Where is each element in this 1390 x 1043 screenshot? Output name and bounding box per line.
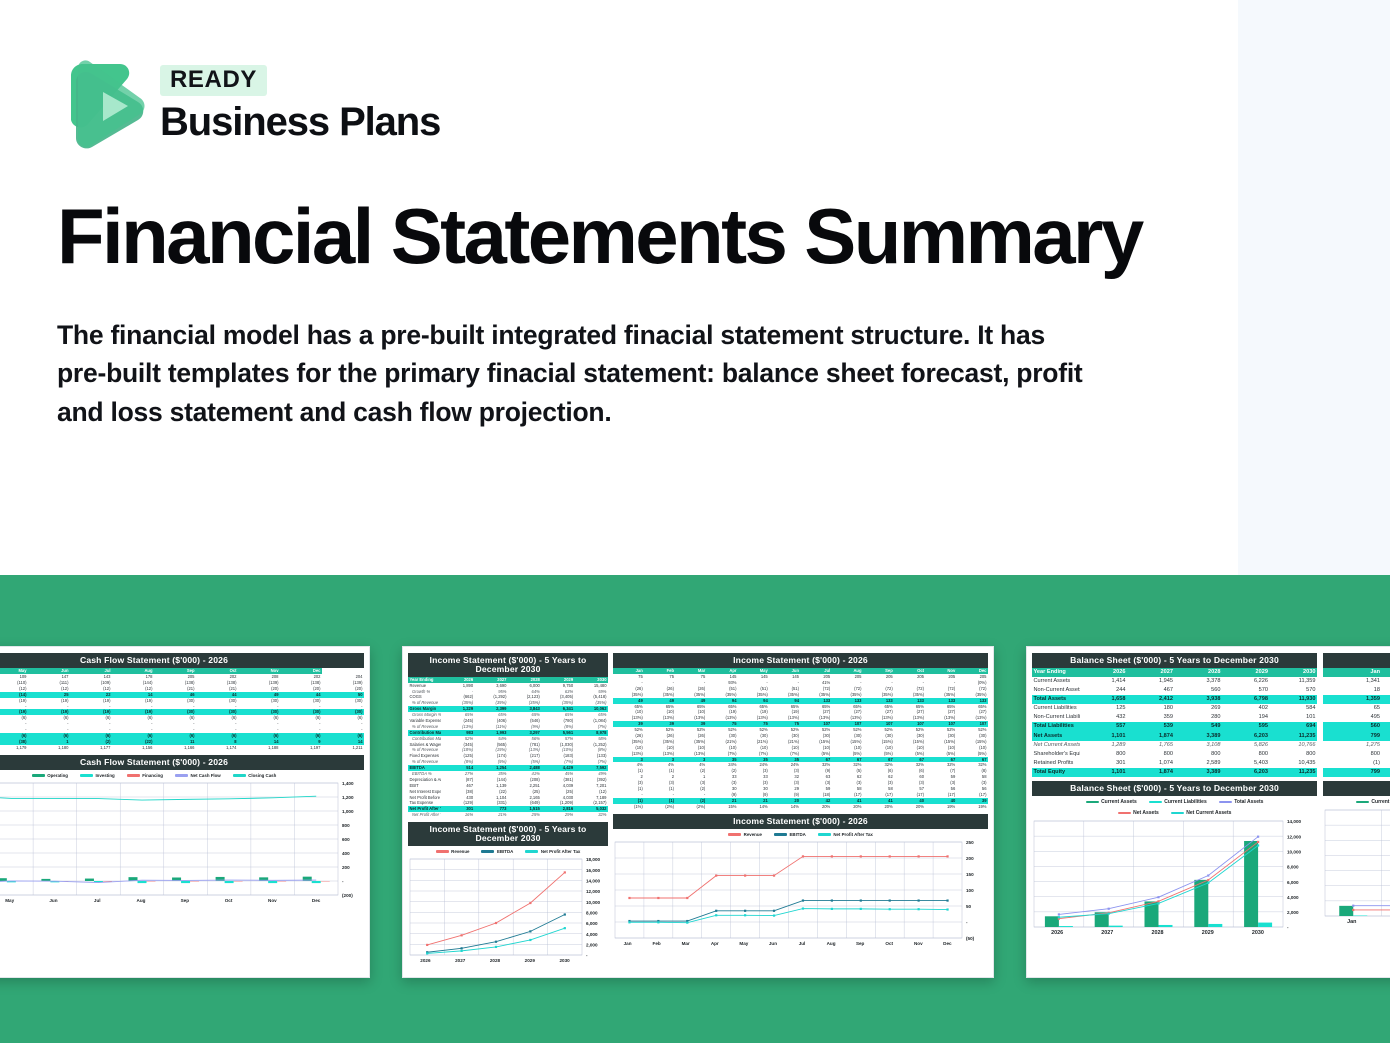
income-5y-table: Year Ending20262027202820292030Revenue1,… [408, 677, 608, 818]
svg-text:10,000: 10,000 [586, 900, 600, 905]
svg-text:4,000: 4,000 [586, 932, 598, 937]
income-monthly-x-axis: JanFebMarAprMayJunJulAugSepOctNovDec [613, 941, 988, 946]
axis-tick-label: 2027 [443, 958, 478, 963]
legend-item: Current Assets [1356, 799, 1390, 805]
row-label: Non-Current Assets [1032, 686, 1080, 695]
table-cell: 1,166 [154, 745, 196, 751]
table-cell: 29% [541, 812, 574, 818]
table-row: Net Assets1,1011,8743,3896,20311,235 [1032, 732, 1317, 741]
table-cell: 11,235 [1270, 732, 1318, 741]
axis-tick-label: Jul [787, 941, 816, 946]
legend-label: Operating [47, 773, 68, 778]
table-cell: 557 [1080, 722, 1128, 731]
legend-swatch [1086, 801, 1099, 804]
table-cell: 495 [1323, 713, 1382, 722]
income-monthly-chart-title: Income Statement ($'000) - 2026 [613, 814, 988, 829]
brand-logo: READY Business Plans [58, 58, 440, 150]
table-cell: 32% [575, 812, 608, 818]
legend-label: Net Profit After Tax [541, 849, 581, 854]
table-cell: 549 [1175, 722, 1223, 731]
cashflow-table-title: Cash Flow Statement ($'000) - 2026 [0, 653, 364, 668]
legend-swatch [1171, 812, 1184, 815]
table-row: 1,3411,323 [1323, 677, 1390, 686]
svg-text:-: - [1287, 925, 1289, 930]
balance-monthly-table: JanFeb1,3411,32318361,3591,3596572495489… [1323, 668, 1390, 777]
legend-swatch [481, 850, 494, 853]
table-cell: 1,874 [1127, 768, 1175, 777]
axis-tick-label: Feb [1381, 919, 1390, 925]
svg-text:6,000: 6,000 [1287, 880, 1299, 885]
table-cell: 1,180 [28, 745, 70, 751]
row-label: Depreciation & Amortisation [408, 777, 441, 783]
table-cell: 1,101 [1080, 768, 1128, 777]
header-cell: 2030 [1270, 668, 1318, 677]
table-cell: 800 [1127, 750, 1175, 759]
axis-tick-label: Jan [613, 941, 642, 946]
table-cell: 800 [1080, 750, 1128, 759]
cashflow-chart-title: Cash Flow Statement ($'000) - 2026 [0, 755, 364, 770]
axis-tick-label: Sep [163, 898, 207, 903]
table-cell: 561 [1382, 722, 1390, 731]
axis-tick-label: Sep [846, 941, 875, 946]
header-cell: Year Ending [1032, 668, 1080, 677]
table-cell: 10,435 [1270, 759, 1318, 768]
axis-tick-label: 2027 [1082, 930, 1132, 936]
svg-text:200: 200 [342, 865, 350, 870]
axis-tick-label: 2029 [1183, 930, 1233, 936]
header-cell: 2029 [1222, 668, 1270, 677]
svg-text:150: 150 [966, 872, 974, 877]
svg-text:18,000: 18,000 [586, 857, 600, 862]
legend-item: Operating [32, 773, 68, 778]
svg-text:(50): (50) [966, 936, 975, 941]
table-cell: 402 [1222, 704, 1270, 713]
table-cell: 1,323 [1382, 677, 1390, 686]
svg-text:-: - [966, 920, 968, 925]
panel-income-statement[interactable]: Income Statement ($'000) - 5 Years to De… [402, 646, 994, 978]
income-monthly-chart-legend: RevenueEBITDANet Profit After Tax [613, 829, 988, 839]
table-cell: 14% [769, 804, 800, 810]
svg-text:12,000: 12,000 [1287, 834, 1301, 839]
table-cell: 269 [1175, 704, 1223, 713]
balance-5y-chart-legend-row1: Current AssetsCurrent LiabilitiesTotal A… [1032, 796, 1317, 807]
axis-tick-label: Aug [119, 898, 163, 903]
income-5y-chart: Income Statement ($'000) - 5 Years to De… [408, 822, 608, 963]
table-row: Retained Profits3011,0742,5895,40310,435 [1032, 759, 1317, 768]
table-cell: 570 [1270, 686, 1318, 695]
legend-item: Financing [127, 773, 163, 778]
header-cell: 2028 [1175, 668, 1223, 677]
table-cell: 1,414 [1080, 677, 1128, 686]
cashflow-table: AprMayJunJulAugSepOctNovDec7910914714317… [0, 668, 364, 750]
table-row: 800800 [1323, 750, 1390, 759]
table-cell: 244 [1080, 686, 1128, 695]
table-row: (1%)(2%)(2%)15%14%14%20%20%20%20%19%19% [613, 804, 988, 810]
legend-label: Total Assets [1234, 799, 1263, 805]
legend-label: EBITDA [497, 849, 513, 854]
svg-text:8,000: 8,000 [586, 910, 598, 915]
legend-item: Net Cash Flow [175, 773, 221, 778]
svg-text:4,000: 4,000 [1287, 895, 1299, 900]
axis-tick-label: Dec [294, 898, 338, 903]
svg-text:8,000: 8,000 [1287, 865, 1299, 870]
table-cell: 570 [1222, 686, 1270, 695]
balance-5y-x-axis: 20262027202820292030 [1032, 930, 1317, 936]
table-cell: 6,203 [1222, 732, 1270, 741]
income-monthly-chart: Income Statement ($'000) - 2026 RevenueE… [613, 814, 988, 946]
table-cell: 1,275 [1323, 741, 1382, 750]
cashflow-chart: Cash Flow Statement ($'000) - 2026 Opera… [0, 755, 364, 903]
table-cell: 11,359 [1270, 677, 1318, 686]
table-cell: 1,289 [1080, 741, 1128, 750]
table-cell: 19% [957, 804, 988, 810]
balance-5y-table: Year Ending20262027202820292030Current A… [1032, 668, 1317, 777]
table-cell: 539 [1127, 722, 1175, 731]
income-monthly-plot: 25020015010050-(50) [613, 839, 988, 941]
table-cell: 5,826 [1222, 741, 1270, 750]
axis-tick-label: 2026 [1032, 930, 1082, 936]
table-cell: 799 [1323, 732, 1382, 741]
row-label: Current Liabilities [1032, 704, 1080, 713]
table-cell: 11,930 [1270, 695, 1318, 704]
table-row: Net Profit After Tax %16%21%25%29%32% [408, 812, 608, 818]
table-cell: 800 [1323, 750, 1382, 759]
table-cell: 694 [1270, 722, 1318, 731]
table-cell: 798 [1382, 768, 1390, 777]
svg-text:-: - [342, 879, 344, 884]
axis-tick-label: Mar [671, 941, 700, 946]
table-cell: (1%) [613, 804, 644, 810]
table-row: 495489 [1323, 713, 1390, 722]
table-row: 560561 [1323, 722, 1390, 731]
axis-tick-label: Aug [817, 941, 846, 946]
axis-tick-label: 2026 [408, 958, 443, 963]
balance-5y-chart-legend-row2: Net AssetsNet Current Assets [1032, 807, 1317, 818]
row-label: Retained Profits [1032, 759, 1080, 768]
table-cell: 467 [1127, 686, 1175, 695]
table-row: 1,2751,251 [1323, 741, 1390, 750]
table-cell: 301 [1080, 759, 1128, 768]
balance-monthly-chart: Current Assets JanFeb [1323, 781, 1390, 925]
svg-text:2,000: 2,000 [586, 942, 598, 947]
table-cell: 3,108 [1175, 741, 1223, 750]
cashflow-chart-legend: OperatingInvestingFinancingNet Cash Flow… [0, 770, 364, 780]
play-triangle-logo-icon [58, 58, 146, 150]
balance-monthly-block: JanFeb1,3411,32318361,3591,3596572495489… [1323, 653, 1390, 973]
table-cell: 1,341 [1323, 677, 1382, 686]
table-cell: 101 [1270, 713, 1318, 722]
income-5y-block: Income Statement ($'000) - 5 Years to De… [408, 653, 608, 973]
legend-swatch [436, 850, 449, 853]
table-cell: 1,945 [1127, 677, 1175, 686]
svg-text:50: 50 [966, 904, 972, 909]
table-cell: 1,211 [322, 745, 364, 751]
svg-text:1,200: 1,200 [342, 795, 354, 800]
table-row: 1836 [1323, 686, 1390, 695]
table-header-row: JanFeb [1323, 668, 1390, 677]
legend-swatch [774, 833, 787, 836]
legend-item: Net Current Assets [1171, 810, 1232, 816]
table-cell: 5,403 [1222, 759, 1270, 768]
ready-badge: READY [160, 65, 267, 97]
axis-tick-label: 2029 [512, 958, 547, 963]
balance-5y-chart-title: Balance Sheet ($'000) - 5 Years to Decem… [1032, 781, 1317, 796]
row-label: Net Profit After Tax % [408, 812, 441, 818]
table-row: 1,3591,359 [1323, 695, 1390, 704]
header-cell: 2026 [1080, 668, 1128, 677]
balance-monthly-chart-title [1323, 781, 1390, 796]
income-monthly-table-title: Income Statement ($'000) - 2026 [613, 653, 988, 668]
legend-item: EBITDA [774, 832, 806, 837]
cashflow-x-axis: AprMayJunJulAugSepOctNovDec [0, 898, 364, 903]
table-cell: 125 [1080, 704, 1128, 713]
table-cell: 799 [1323, 768, 1382, 777]
income-5y-chart-title: Income Statement ($'000) - 5 Years to De… [408, 822, 608, 846]
svg-text:(200): (200) [342, 893, 353, 898]
table-cell: 20% [894, 804, 925, 810]
table-row: (1)(2) [1323, 759, 1390, 768]
axis-tick-label: Oct [207, 898, 251, 903]
svg-text:16,000: 16,000 [586, 868, 600, 873]
table-cell: 1,251 [1382, 741, 1390, 750]
axis-tick-label: Nov [250, 898, 294, 903]
legend-swatch [525, 850, 538, 853]
panel-cash-flow[interactable]: Cash Flow Statement ($'000) - 2026 AprMa… [0, 646, 370, 978]
table-cell: 1,874 [1127, 732, 1175, 741]
table-cell: 20% [863, 804, 894, 810]
legend-label: Net Profit After Tax [833, 832, 873, 837]
legend-swatch [1118, 812, 1131, 815]
table-cell: 595 [1222, 722, 1270, 731]
axis-tick-label: Jan [1323, 919, 1381, 925]
table-cell: (2%) [644, 804, 675, 810]
axis-tick-label: 2028 [1132, 930, 1182, 936]
table-cell: 560 [1175, 686, 1223, 695]
table-row: 6572 [1323, 704, 1390, 713]
legend-item: Revenue [436, 849, 470, 854]
svg-text:600: 600 [342, 837, 350, 842]
axis-tick-label: 2028 [478, 958, 513, 963]
svg-text:14,000: 14,000 [1287, 819, 1301, 824]
table-cell: 3,938 [1175, 695, 1223, 704]
table-cell: 16% [441, 812, 474, 818]
header-cell: Jan [1323, 668, 1382, 677]
legend-item: Closing Cash [233, 773, 277, 778]
legend-item: Net Profit After Tax [818, 832, 873, 837]
row-label: Net Interest Expense [408, 789, 441, 795]
table-cell: 1,177 [70, 745, 112, 751]
table-header-row: Year Ending20262027202820292030 [1032, 668, 1317, 677]
balance-monthly-chart-legend: Current Assets [1323, 796, 1390, 807]
table-cell: 1,074 [1127, 759, 1175, 768]
legend-label: Current Liabilities [1164, 799, 1207, 805]
table-cell: 584 [1270, 704, 1318, 713]
table-cell: 1,359 [1323, 695, 1382, 704]
page-title: Financial Statements Summary [57, 196, 1177, 276]
axis-tick-label: Nov [904, 941, 933, 946]
table-row: Current Assets1,4141,9453,3786,22611,359 [1032, 677, 1317, 686]
legend-swatch [127, 774, 140, 777]
table-cell: 1,179 [0, 745, 28, 751]
legend-item: Total Assets [1219, 799, 1264, 805]
table-cell: 1,658 [1080, 695, 1128, 704]
table-cell: 2,412 [1127, 695, 1175, 704]
table-cell: 19% [926, 804, 957, 810]
table-row: 1,2171,1791,1801,1771,1561,1661,1741,188… [0, 745, 364, 751]
svg-text:100: 100 [966, 888, 974, 893]
axis-tick-label: Feb [642, 941, 671, 946]
legend-item: Current Assets [1086, 799, 1137, 805]
table-cell: 180 [1127, 704, 1175, 713]
legend-label: Net Cash Flow [190, 773, 220, 778]
svg-text:1,400: 1,400 [342, 781, 354, 786]
row-label: Contribution Margin % [408, 736, 441, 742]
axis-tick-label: Oct [875, 941, 904, 946]
axis-tick-label: Jun [758, 941, 787, 946]
table-cell: 800 [1382, 750, 1390, 759]
row-label: Contribution Margin [408, 730, 441, 736]
table-cell: 798 [1382, 732, 1390, 741]
table-cell: (1) [1323, 759, 1382, 768]
svg-text:800: 800 [342, 823, 350, 828]
legend-swatch [233, 774, 246, 777]
panel-balance-sheet[interactable]: Balance Sheet ($'000) - 5 Years to Decem… [1026, 646, 1390, 978]
income-monthly-table: JanFebMarAprMayJunJulAugSepOctNovDec7575… [613, 668, 988, 809]
balance-monthly-plot [1323, 807, 1390, 919]
table-cell: 20% [832, 804, 863, 810]
svg-text:250: 250 [966, 840, 974, 845]
balance-5y-plot: 14,00012,00010,0008,0006,0004,0002,000- [1032, 818, 1317, 930]
legend-label: Current Assets [1371, 799, 1390, 805]
legend-item: Current Liabilities [1149, 799, 1207, 805]
svg-text:14,000: 14,000 [586, 878, 600, 883]
table-row: Total Equity1,1011,8743,3896,20311,235 [1032, 768, 1317, 777]
legend-item: Investing [80, 773, 115, 778]
income-5y-chart-legend: RevenueEBITDANet Profit After Tax [408, 846, 608, 856]
svg-text:2,000: 2,000 [1287, 910, 1299, 915]
axis-tick-label: May [0, 898, 32, 903]
table-cell: 2,589 [1175, 759, 1223, 768]
balance-5y-table-title: Balance Sheet ($'000) - 5 Years to Decem… [1032, 653, 1317, 668]
income-5y-x-axis: 20262027202820292030 [408, 958, 608, 963]
legend-label: EBITDA [789, 832, 805, 837]
table-cell: 15% [707, 804, 738, 810]
svg-text:-: - [586, 953, 588, 958]
svg-text:200: 200 [966, 856, 974, 861]
table-cell: 432 [1080, 713, 1128, 722]
legend-item: Revenue [728, 832, 762, 837]
table-cell: 3,389 [1175, 732, 1223, 741]
table-cell: 72 [1382, 704, 1390, 713]
table-cell: 3,389 [1175, 768, 1223, 777]
table-cell: 800 [1222, 750, 1270, 759]
table-cell: 3,378 [1175, 677, 1223, 686]
hero-section: READY Business Plans Financial Statement… [0, 0, 1390, 575]
table-cell: 489 [1382, 713, 1390, 722]
legend-swatch [175, 774, 188, 777]
table-cell: 65 [1323, 704, 1382, 713]
legend-swatch [728, 833, 741, 836]
screenshot-panel-strip: Cash Flow Statement ($'000) - 2026 AprMa… [0, 646, 1390, 978]
svg-text:10,000: 10,000 [1287, 849, 1301, 854]
axis-tick-label: Dec [933, 941, 962, 946]
brand-name: Business Plans [160, 101, 440, 143]
table-cell: (2%) [676, 804, 707, 810]
legend-swatch [818, 833, 831, 836]
legend-label: Closing Cash [248, 773, 276, 778]
axis-tick-label: Jun [32, 898, 76, 903]
table-cell: 36 [1382, 686, 1390, 695]
legend-swatch [1149, 801, 1162, 804]
table-row: Non-Current Assets244467560570570 [1032, 686, 1317, 695]
table-cell: 10,766 [1270, 741, 1318, 750]
table-row: 799798 [1323, 732, 1390, 741]
table-cell: 280 [1175, 713, 1223, 722]
legend-label: Revenue [744, 832, 762, 837]
legend-label: Current Assets [1101, 799, 1137, 805]
svg-text:400: 400 [342, 851, 350, 856]
balance-5y-chart: Balance Sheet ($'000) - 5 Years to Decem… [1032, 781, 1317, 936]
table-row: Non-Current Liabilities432359280194101 [1032, 713, 1317, 722]
balance-monthly-table-title [1323, 653, 1390, 668]
table-cell: 1,156 [112, 745, 154, 751]
balance-monthly-x-axis: JanFeb [1323, 919, 1390, 925]
table-cell: 800 [1270, 750, 1318, 759]
table-row: Net Current Assets1,2891,7653,1085,82610… [1032, 741, 1317, 750]
balance-5y-block: Balance Sheet ($'000) - 5 Years to Decem… [1032, 653, 1317, 973]
row-label: Total Assets [1032, 695, 1080, 704]
page-description: The financial model has a pre-built inte… [57, 316, 1092, 431]
table-cell: 6,226 [1222, 677, 1270, 686]
row-label: Total Liabilities [1032, 722, 1080, 731]
table-cell: 800 [1175, 750, 1223, 759]
table-cell: 1,359 [1382, 695, 1390, 704]
table-cell: 1,188 [238, 745, 280, 751]
axis-tick-label: 2030 [1233, 930, 1283, 936]
table-row: Total Liabilities557539549595694 [1032, 722, 1317, 731]
axis-tick-label: Apr [700, 941, 729, 946]
table-cell: 18 [1323, 686, 1382, 695]
table-cell: 6,203 [1222, 768, 1270, 777]
legend-item: Net Assets [1118, 810, 1159, 816]
legend-label: Revenue [451, 849, 469, 854]
table-cell: (2) [1382, 759, 1390, 768]
row-label: Non-Current Liabilities [1032, 713, 1080, 722]
row-label: % of Revenue [408, 724, 441, 730]
table-row: Current Liabilities125180269402584 [1032, 704, 1317, 713]
table-cell: 6,798 [1222, 695, 1270, 704]
legend-swatch [32, 774, 45, 777]
table-row: Total Assets1,6582,4123,9386,79811,930 [1032, 695, 1317, 704]
legend-swatch [1356, 801, 1369, 804]
table-cell: 1,101 [1080, 732, 1128, 741]
table-cell: 1,174 [196, 745, 238, 751]
header-cell: Feb [1382, 668, 1390, 677]
table-cell: 20% [801, 804, 832, 810]
axis-tick-label: 2030 [547, 958, 582, 963]
legend-label: Net Assets [1133, 810, 1159, 816]
axis-tick-label: Jul [75, 898, 119, 903]
header-cell: 2027 [1127, 668, 1175, 677]
row-label: Total Equity [1032, 768, 1080, 777]
income-5y-table-title: Income Statement ($'000) - 5 Years to De… [408, 653, 608, 677]
table-cell: 21% [475, 812, 508, 818]
cashflow-plot: 1,4001,2001,000800600400200-(200) [0, 780, 364, 898]
legend-swatch [80, 774, 93, 777]
table-row: Shareholder's Equity800800800800800 [1032, 750, 1317, 759]
income-5y-plot: 18,00016,00014,00012,00010,0008,0006,000… [408, 856, 608, 958]
table-row: 799798 [1323, 768, 1390, 777]
